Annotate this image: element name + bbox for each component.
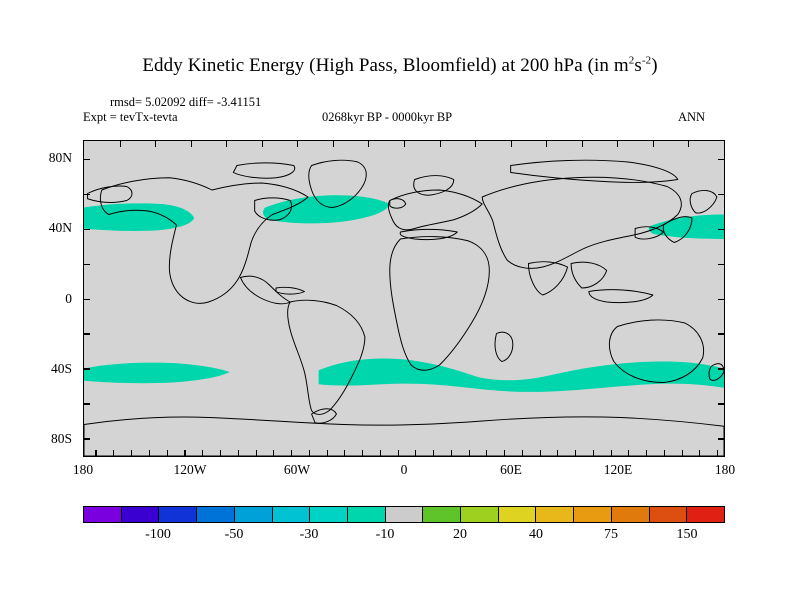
coast-antarctic-peninsula (312, 409, 337, 423)
x-tick-minor (504, 450, 505, 456)
rmsd-annotation: rmsd= 5.02092 diff= -3.41151 (110, 95, 261, 110)
period-annotation: 0268kyr BP - 0000kyr BP (322, 110, 452, 125)
y-axis-label-2: 0 (26, 291, 72, 307)
coast-indonesia (589, 290, 653, 303)
x-tick-minor (593, 450, 594, 456)
colorbar-cell-3[interactable] (197, 507, 235, 522)
x-tick-minor-top (404, 141, 405, 147)
x-tick-minor-top (653, 141, 654, 147)
x-tick-minor (220, 450, 221, 456)
anomaly-north-pacific (84, 203, 194, 231)
coast-caribbean (276, 287, 304, 294)
colorbar-cell-0[interactable] (84, 507, 122, 522)
season-annotation: ANN (678, 110, 705, 125)
colorbar-label-7: 150 (677, 527, 698, 543)
y-axis-label-4: 80S (26, 431, 72, 447)
x-tick-minor (575, 450, 576, 456)
x-tick-minor (327, 450, 328, 456)
page-title: Eddy Kinetic Energy (High Pass, Bloomfie… (0, 55, 800, 77)
colorbar-cell-10[interactable] (461, 507, 499, 522)
x-tick-minor (646, 450, 647, 456)
x-axis-label-2: 60W (284, 462, 310, 478)
x-tick-minor-top (297, 141, 298, 147)
x-axis-label-6: 180 (715, 462, 735, 478)
x-tick-minor (557, 450, 558, 456)
colorbar-label-1: -50 (225, 527, 244, 543)
x-tick-minor-top (155, 141, 156, 147)
coast-central-america (240, 276, 290, 304)
colorbar-label-2: -30 (300, 527, 319, 543)
colorbar-cell-4[interactable] (235, 507, 273, 522)
x-tick-minor (362, 450, 363, 456)
x-tick-minor (628, 450, 629, 456)
x-tick-minor-top (475, 141, 476, 147)
x-tick-minor-top (546, 141, 547, 147)
x-tick-minor (113, 450, 114, 456)
x-tick-minor-top (688, 141, 689, 147)
x-tick-minor (344, 450, 345, 456)
page-title-tail: ) (651, 55, 657, 76)
colorbar-cell-14[interactable] (612, 507, 650, 522)
x-tick-minor (291, 450, 292, 456)
x-tick-minor-top (368, 141, 369, 147)
x-tick-minor-top (582, 141, 583, 147)
y-tick-40s (84, 368, 90, 369)
y-tick-right (718, 299, 724, 300)
x-axis-label-3: 0 (401, 462, 408, 478)
y-tick-minor (84, 194, 90, 195)
x-tick-minor (256, 450, 257, 456)
x-axis-label-4: 60E (500, 462, 522, 478)
y-tick-0 (84, 299, 90, 300)
x-tick-minor (433, 450, 434, 456)
x-axis-label-0: 180 (73, 462, 93, 478)
x-axis-label-1: 120W (174, 462, 207, 478)
coast-southeast-asia (571, 262, 607, 288)
anomaly-south-atlantic-indian (319, 358, 724, 391)
y-tick-right (718, 159, 724, 160)
colorbar-cell-2[interactable] (159, 507, 197, 522)
x-tick-minor (664, 450, 665, 456)
colorbar-cell-11[interactable] (499, 507, 537, 522)
x-tick-minor (309, 450, 310, 456)
experiment-annotation: Expt = tevTx-tevta (83, 110, 178, 125)
colorbar-cell-8[interactable] (386, 507, 424, 522)
colorbar-cell-6[interactable] (310, 507, 348, 522)
coast-asia (482, 177, 681, 268)
colorbar-cell-7[interactable] (348, 507, 386, 522)
colorbar-cell-12[interactable] (536, 507, 574, 522)
anomaly-south-pacific (84, 363, 230, 384)
coast-europe (388, 190, 482, 230)
y-tick-minor (84, 403, 90, 404)
colorbar-label-3: -10 (376, 527, 395, 543)
coast-india (528, 262, 567, 295)
y-tick-right (718, 403, 724, 404)
coast-scandinavia (414, 176, 454, 196)
x-tick-minor-top (120, 141, 121, 147)
colorbar-cell-5[interactable] (273, 507, 311, 522)
x-tick-minor (486, 450, 487, 456)
coast-canadian-arctic (233, 163, 294, 178)
colorbar-label-4: 20 (453, 527, 467, 543)
y-tick-right (718, 264, 724, 265)
y-tick-minor (84, 264, 90, 265)
x-tick-minor (469, 450, 470, 456)
x-tick-minor-top (440, 141, 441, 147)
x-tick-minor (682, 450, 683, 456)
x-tick-minor-top (333, 141, 334, 147)
x-tick-minor (540, 450, 541, 456)
colorbar-label-6: 75 (604, 527, 618, 543)
colorbar-cell-9[interactable] (423, 507, 461, 522)
x-tick-minor (522, 450, 523, 456)
colorbar-cell-1[interactable] (122, 507, 160, 522)
colorbar[interactable] (83, 506, 725, 523)
x-tick-minor-top (262, 141, 263, 147)
y-axis-label-0: 80N (26, 150, 72, 166)
colorbar-label-5: 40 (529, 527, 543, 543)
y-tick-right (718, 333, 724, 334)
x-tick-minor (415, 450, 416, 456)
coast-alaska (88, 186, 132, 202)
y-tick-right (718, 438, 724, 439)
x-tick-minor (273, 450, 274, 456)
coast-uk-ireland (390, 199, 406, 209)
x-tick-minor-top (191, 141, 192, 147)
x-tick-minor (149, 450, 150, 456)
page-title-main: Eddy Kinetic Energy (High Pass, Bloomfie… (142, 55, 628, 76)
x-tick-minor (717, 450, 718, 456)
y-tick-40n (84, 229, 90, 230)
coast-south-america (288, 300, 365, 414)
y-tick-right (718, 194, 724, 195)
x-tick-minor-top (226, 141, 227, 147)
world-map (84, 141, 724, 456)
x-tick-minor (451, 450, 452, 456)
page-title-exponent-2: -2 (642, 55, 651, 67)
y-axis-label-1: 40N (26, 220, 72, 236)
x-tick-minor (184, 450, 185, 456)
y-axis-label-3: 40S (26, 361, 72, 377)
colorbar-cell-15[interactable] (650, 507, 688, 522)
map-plot-area[interactable] (83, 140, 725, 457)
page-title-mid: s (634, 55, 642, 76)
y-tick-80s (84, 438, 90, 439)
x-tick-minor (131, 450, 132, 456)
x-tick-minor (699, 450, 700, 456)
x-tick-minor (380, 450, 381, 456)
x-tick-minor-top (511, 141, 512, 147)
x-axis-label-5: 120E (604, 462, 633, 478)
anomaly-shading-layer (84, 195, 724, 392)
x-tick-minor (95, 450, 96, 456)
x-tick-minor (202, 450, 203, 456)
y-tick-right (718, 368, 724, 369)
y-tick-minor (84, 333, 90, 334)
x-tick-minor (398, 450, 399, 456)
colorbar-label-0: -100 (145, 527, 171, 543)
y-tick-right (718, 229, 724, 230)
coast-kamchatka (690, 190, 717, 213)
x-tick-minor-top (617, 141, 618, 147)
colorbar-cell-16[interactable] (687, 507, 724, 522)
coast-madagascar (495, 332, 513, 361)
x-tick-minor (167, 450, 168, 456)
y-tick-80n (84, 159, 90, 160)
coast-siberia-arctic (511, 160, 678, 182)
coast-africa (390, 237, 490, 371)
x-tick-minor (611, 450, 612, 456)
coastline-layer (84, 160, 724, 456)
x-tick-minor (238, 450, 239, 456)
colorbar-cell-13[interactable] (574, 507, 612, 522)
